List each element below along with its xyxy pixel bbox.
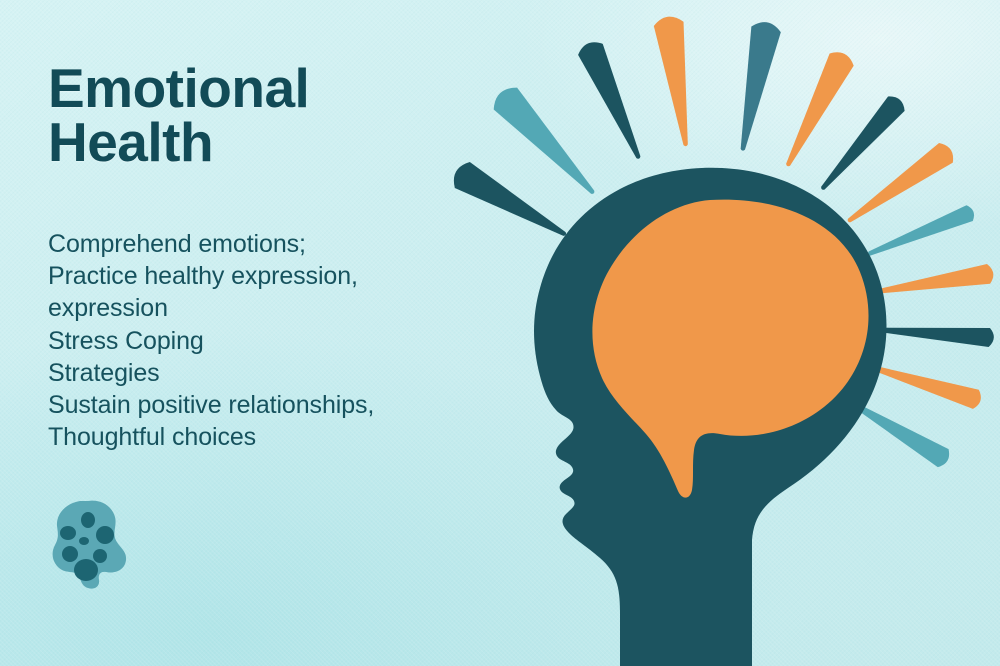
body-line-5: Strategies bbox=[48, 357, 448, 389]
ray-11 bbox=[878, 328, 994, 347]
illustration-svg bbox=[420, 0, 1000, 666]
blob-spot-5 bbox=[62, 546, 78, 562]
ray-7 bbox=[821, 96, 904, 189]
blob-spot-7 bbox=[74, 559, 98, 581]
body-line-6: Sustain positive relationships, bbox=[48, 389, 448, 421]
abstract-blob-icon bbox=[48, 498, 132, 590]
ray-8 bbox=[848, 143, 953, 222]
headline-line-1: Emotional bbox=[48, 62, 448, 116]
body-copy: Comprehend emotions; Practice healthy ex… bbox=[48, 170, 448, 454]
poster-canvas: Emotional Health Comprehend emotions; Pr… bbox=[0, 0, 1000, 666]
ray-3 bbox=[578, 42, 640, 158]
ray-5 bbox=[741, 22, 781, 151]
ray-4 bbox=[654, 17, 688, 147]
ray-2 bbox=[494, 88, 595, 194]
body-line-1: Comprehend emotions; bbox=[48, 228, 448, 260]
ray-1 bbox=[454, 162, 566, 236]
ray-10 bbox=[876, 264, 993, 294]
ray-9 bbox=[868, 205, 974, 255]
headline-line-2: Health bbox=[48, 116, 448, 170]
blob-spot-6 bbox=[93, 549, 107, 563]
blob-spot-2 bbox=[60, 526, 76, 540]
ray-13 bbox=[849, 401, 949, 468]
blob-spot-4 bbox=[79, 537, 89, 545]
head-illustration bbox=[420, 0, 1000, 666]
body-line-2: Practice healthy expression, bbox=[48, 260, 448, 292]
blob-spot-1 bbox=[81, 512, 95, 528]
text-block: Emotional Health Comprehend emotions; Pr… bbox=[48, 62, 448, 454]
blob-svg bbox=[48, 498, 132, 590]
ray-6 bbox=[786, 52, 854, 166]
page-title: Emotional Health bbox=[48, 62, 448, 170]
blob-spot-3 bbox=[96, 526, 114, 544]
body-line-3: expression bbox=[48, 292, 448, 324]
body-line-4: Stress Coping bbox=[48, 325, 448, 357]
ray-12 bbox=[869, 365, 981, 409]
body-line-7: Thoughtful choices bbox=[48, 421, 448, 453]
